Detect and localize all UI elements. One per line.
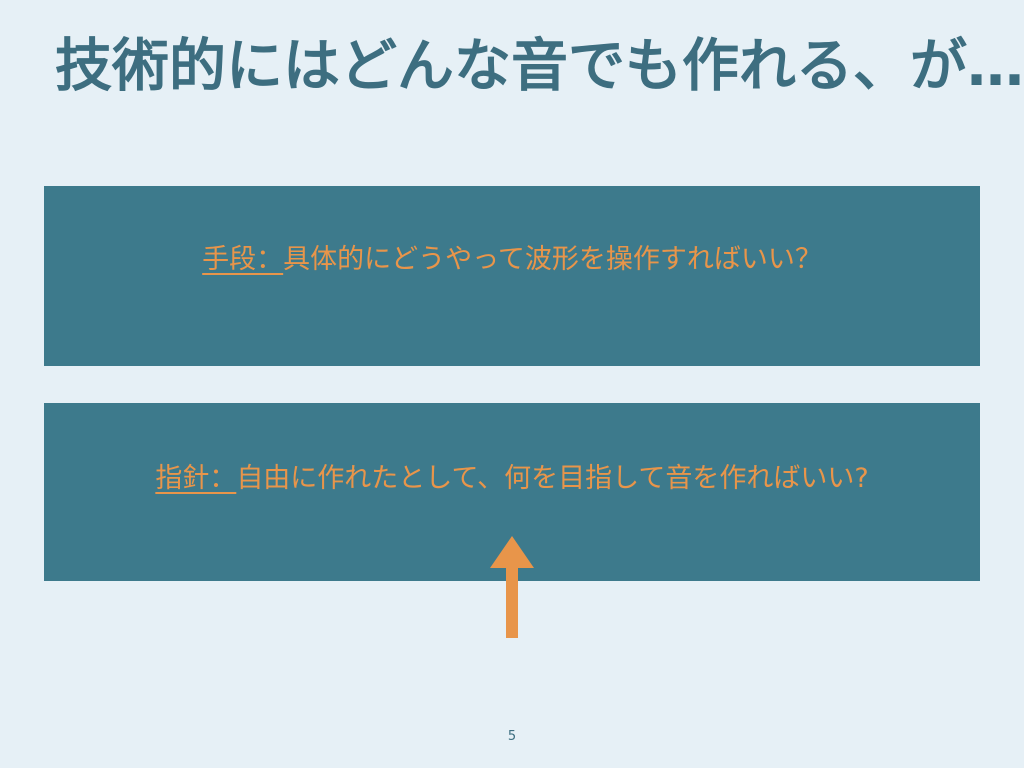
callout-text-guide: 指針：自由に作れたとして、何を目指して音を作ればいい? [44,459,980,499]
callout-body-guide: 自由に作れたとして、何を目指して音を作ればいい? [236,463,868,494]
page-title: 技術的にはどんな音でも作れる、が… [55,28,995,104]
up-arrow-icon [489,536,535,638]
callout-body-means: 具体的にどうやって波形を操作すればいい？ [283,244,822,275]
callout-label-guide: 指針： [155,463,236,494]
callout-box-means: 手段：具体的にどうやって波形を操作すればいい？ [44,186,980,366]
page-number: 5 [0,728,1024,746]
callout-text-means: 手段：具体的にどうやって波形を操作すればいい？ [44,240,980,280]
callout-label-means: 手段： [202,244,283,275]
slide-canvas: 技術的にはどんな音でも作れる、が… 手段：具体的にどうやって波形を操作すればいい… [0,0,1024,768]
